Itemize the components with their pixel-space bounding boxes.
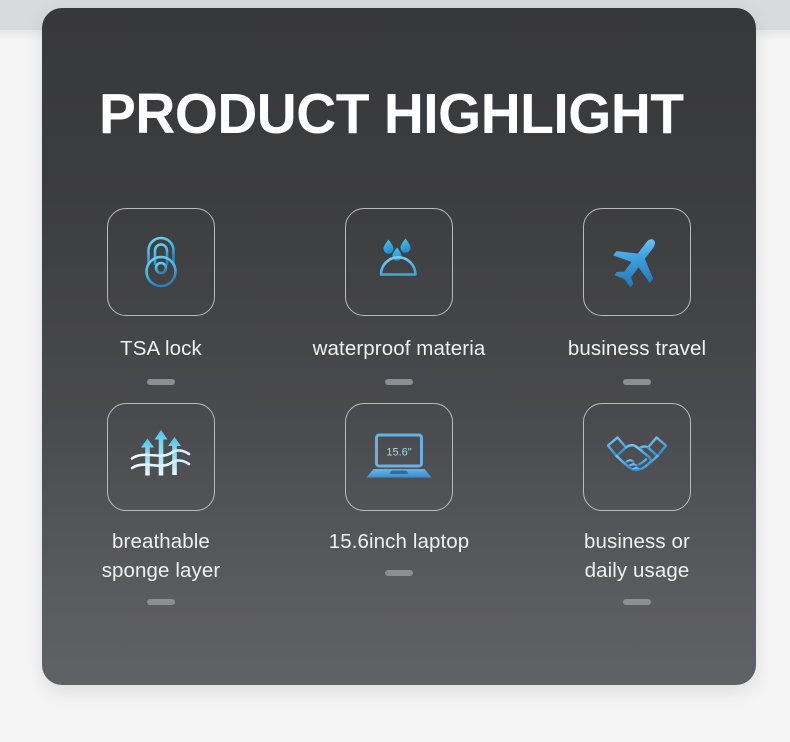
- breathable-arrows-icon: [127, 425, 195, 489]
- feature-label: TSA lock: [120, 334, 202, 363]
- feature-icon-tile: [583, 403, 691, 511]
- padlock-icon: [129, 230, 193, 294]
- feature-item-waterproof[interactable]: waterproof materia: [280, 208, 518, 385]
- feature-label: breathable sponge layer: [102, 527, 221, 585]
- feature-divider: [623, 379, 651, 385]
- feature-row-2: breathable sponge layer: [42, 403, 756, 605]
- feature-item-handshake[interactable]: business or daily usage: [518, 403, 756, 605]
- feature-divider: [147, 599, 175, 605]
- feature-item-tsa-lock[interactable]: TSA lock: [42, 208, 280, 385]
- feature-divider: [147, 379, 175, 385]
- page-title: PRODUCT HIGHLIGHT: [99, 86, 684, 143]
- feature-divider: [385, 570, 413, 576]
- laptop-icon: 15.6": [364, 427, 434, 487]
- feature-grid: TSA lock: [42, 208, 756, 605]
- feature-icon-tile: [107, 403, 215, 511]
- feature-icon-tile: [583, 208, 691, 316]
- feature-icon-tile: 15.6": [345, 403, 453, 511]
- feature-label: business or daily usage: [584, 527, 690, 585]
- product-highlight-panel: PRODUCT HIGHLIGHT: [42, 8, 756, 685]
- feature-divider: [385, 379, 413, 385]
- feature-item-breathable[interactable]: breathable sponge layer: [42, 403, 280, 605]
- feature-item-business-travel[interactable]: business travel: [518, 208, 756, 385]
- laptop-screen-size-text: 15.6": [386, 447, 411, 459]
- feature-item-laptop[interactable]: 15.6" 15.6inch laptop: [280, 403, 518, 605]
- page-background: PRODUCT HIGHLIGHT: [0, 0, 790, 742]
- feature-icon-tile: [107, 208, 215, 316]
- handshake-icon: [602, 427, 672, 487]
- umbrella-raindrops-icon: [367, 230, 431, 294]
- feature-icon-tile: [345, 208, 453, 316]
- feature-label: business travel: [568, 334, 706, 363]
- feature-divider: [623, 599, 651, 605]
- airplane-icon: [605, 230, 669, 294]
- feature-label: 15.6inch laptop: [329, 527, 470, 556]
- feature-row-1: TSA lock: [42, 208, 756, 385]
- feature-label: waterproof materia: [313, 334, 486, 363]
